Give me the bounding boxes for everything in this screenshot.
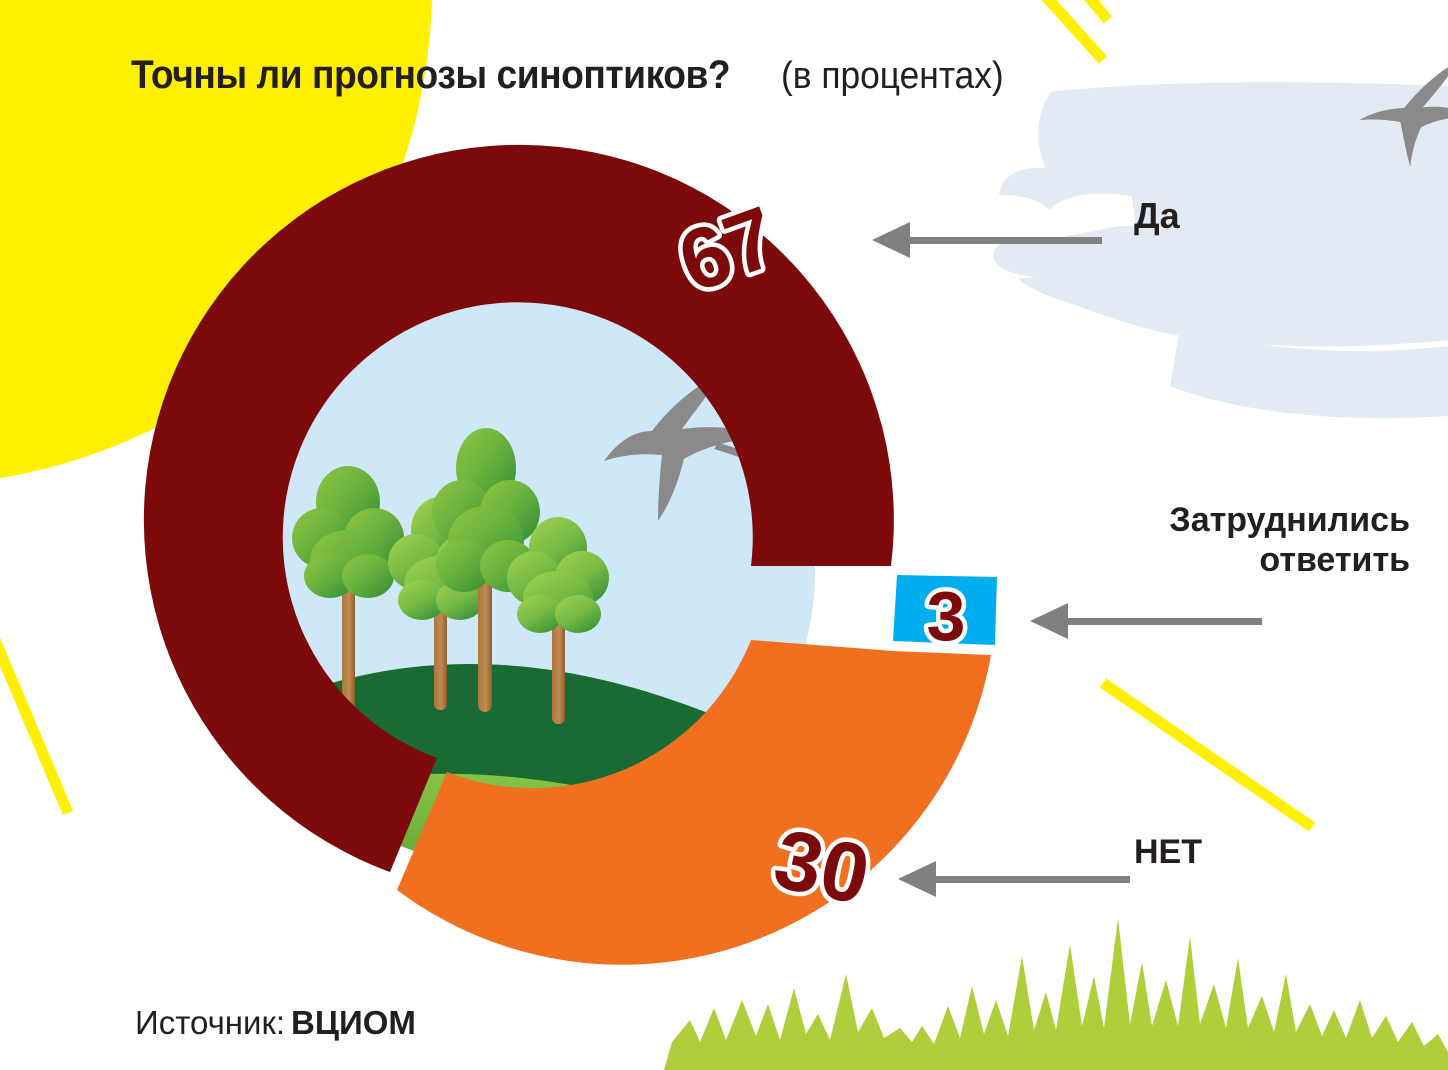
title-sub-text: (в процентах) <box>781 57 1004 95</box>
callout-label-no: НЕТ <box>1134 833 1202 872</box>
callout-label-hard: Затруднились ответить <box>1110 500 1410 580</box>
source-value: ВЦИОМ <box>291 1004 416 1041</box>
source-label: Источник: <box>135 1004 285 1041</box>
source-line: Источник:ВЦИОМ <box>135 1004 416 1042</box>
callout-label-hard-line2: ответить <box>1110 540 1410 580</box>
callout-label-yes: Да <box>1134 195 1180 237</box>
title-main-text: Точны ли прогнозы синоптиков? <box>131 55 730 95</box>
cloud-lower-icon <box>1065 214 1448 309</box>
callout-label-hard-line1: Затруднились <box>1110 500 1410 540</box>
page-title: Точны ли прогнозы синоптиков?(в процента… <box>131 55 1021 95</box>
infographic-canvas: 67 30 3 Точны ли прогнозы синоптиков?(в … <box>0 0 1448 1070</box>
